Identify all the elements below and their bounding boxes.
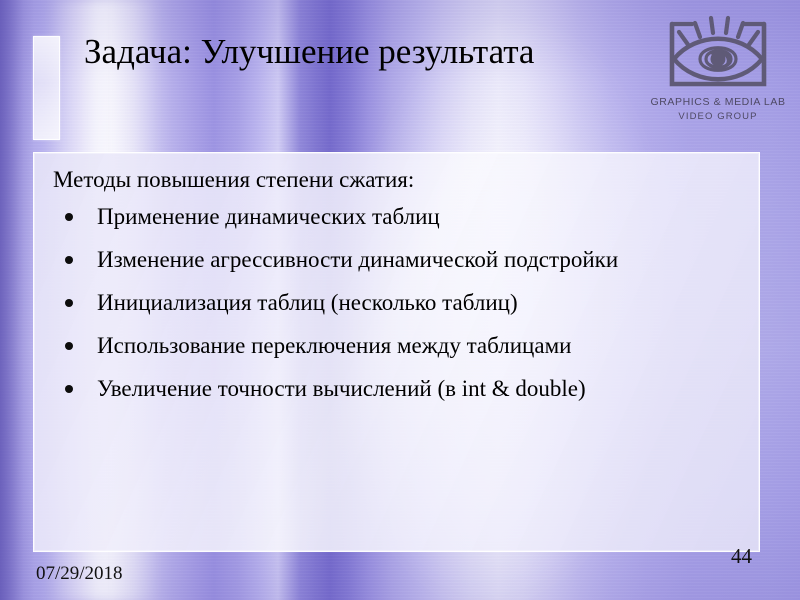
graphics-media-lab-logo: GRAPHICS & MEDIA LAB VIDEO GROUP	[648, 6, 788, 130]
title-decoration-bar	[33, 36, 60, 140]
list-item: Применение динамических таблиц	[53, 201, 745, 232]
eye-pupil-icon	[711, 52, 726, 67]
slide: Задача: Улучшение результата	[0, 0, 800, 600]
slide-title: Задача: Улучшение результата	[84, 26, 644, 77]
list-item-label: Использование переключения между таблица…	[97, 333, 571, 358]
list-item: Изменение агрессивности динамической под…	[53, 244, 745, 275]
list-item: Инициализация таблиц (несколько таблиц)	[53, 287, 745, 318]
logo-line1: GRAPHICS & MEDIA LAB	[650, 96, 785, 108]
bullet-dot-icon	[65, 385, 73, 393]
slide-number: 44	[731, 543, 757, 570]
bullet-dot-icon	[65, 299, 73, 307]
list-item-label: Увеличение точности вычислений (в int & …	[97, 376, 586, 401]
content-panel: Методы повышения степени сжатия: Примене…	[33, 152, 760, 552]
content-body: Методы повышения степени сжатия: Примене…	[53, 165, 745, 416]
list-item: Использование переключения между таблица…	[53, 330, 745, 361]
bullet-dot-icon	[65, 256, 73, 264]
bullet-dot-icon	[65, 342, 73, 350]
list-item-label: Изменение агрессивности динамической под…	[97, 247, 618, 272]
list-item-label: Инициализация таблиц (несколько таблиц)	[97, 290, 518, 315]
footer-date: 07/29/2018	[36, 563, 123, 585]
bullet-dot-icon	[65, 213, 73, 221]
eye-icon: GRAPHICS & MEDIA LAB VIDEO GROUP	[648, 6, 788, 130]
list-item-label: Применение динамических таблиц	[97, 204, 440, 229]
logo-line2: VIDEO GROUP	[678, 111, 757, 122]
list-item: Увеличение точности вычислений (в int & …	[53, 373, 745, 404]
bullet-list: Применение динамических таблиц Изменение…	[53, 201, 745, 404]
content-lead-text: Методы повышения степени сжатия:	[53, 165, 745, 195]
background-left-edge	[0, 0, 34, 600]
